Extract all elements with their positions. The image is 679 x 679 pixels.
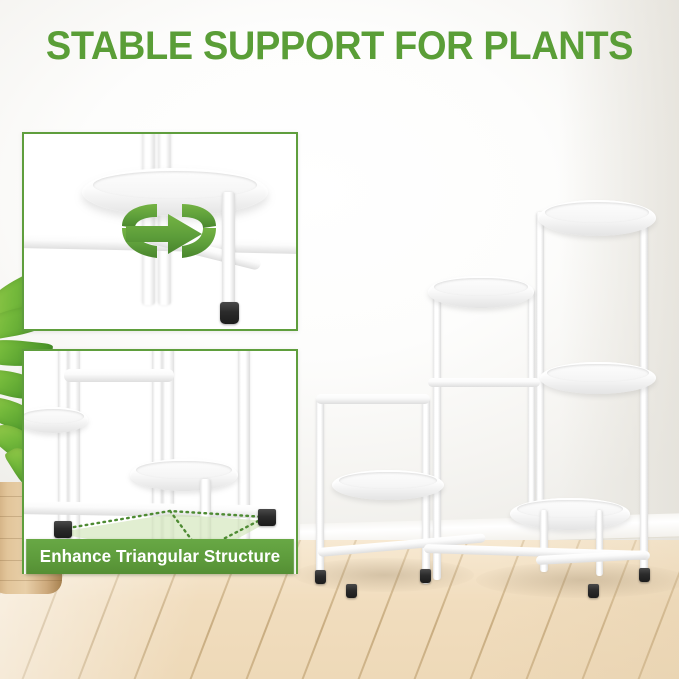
stand-tray-tier2 [510, 498, 630, 530]
stand-foot-4 [588, 584, 599, 598]
stand-tray-tier3 [428, 276, 534, 308]
stand-tray-tier4 [540, 362, 656, 394]
stand-foot-2 [346, 584, 357, 598]
inset-caption-triangular-structure: Enhance Triangular Structure [26, 539, 294, 574]
inset2-foot-right [258, 509, 276, 526]
inset-foot-right [220, 302, 239, 324]
inset-rotation-detail [22, 132, 298, 331]
rotation-arrow-icon [110, 196, 228, 266]
infographic-canvas: STABLE SUPPORT FOR PLANTS [0, 0, 679, 679]
inset2-foot-left [54, 521, 72, 538]
page-title: STABLE SUPPORT FOR PLANTS [17, 22, 662, 70]
stand-post-tier2-right [596, 510, 603, 576]
stand-post-far-right [640, 215, 648, 580]
stand-tray-tier1 [332, 470, 444, 500]
stand-post-right-back [536, 212, 544, 502]
stand-rail-left-upper [316, 394, 430, 404]
stand-post-middle-right [528, 290, 535, 515]
stand-tray-tier5 [538, 200, 656, 236]
stand-foot-1 [315, 570, 326, 584]
stand-foot-3 [420, 569, 431, 583]
inset-rotation-canvas [24, 134, 296, 329]
stand-rail-mid-center [428, 378, 540, 387]
stand-foot-5 [639, 568, 650, 582]
basket-weave-line [0, 580, 62, 581]
plant-stand-hero [300, 170, 679, 630]
